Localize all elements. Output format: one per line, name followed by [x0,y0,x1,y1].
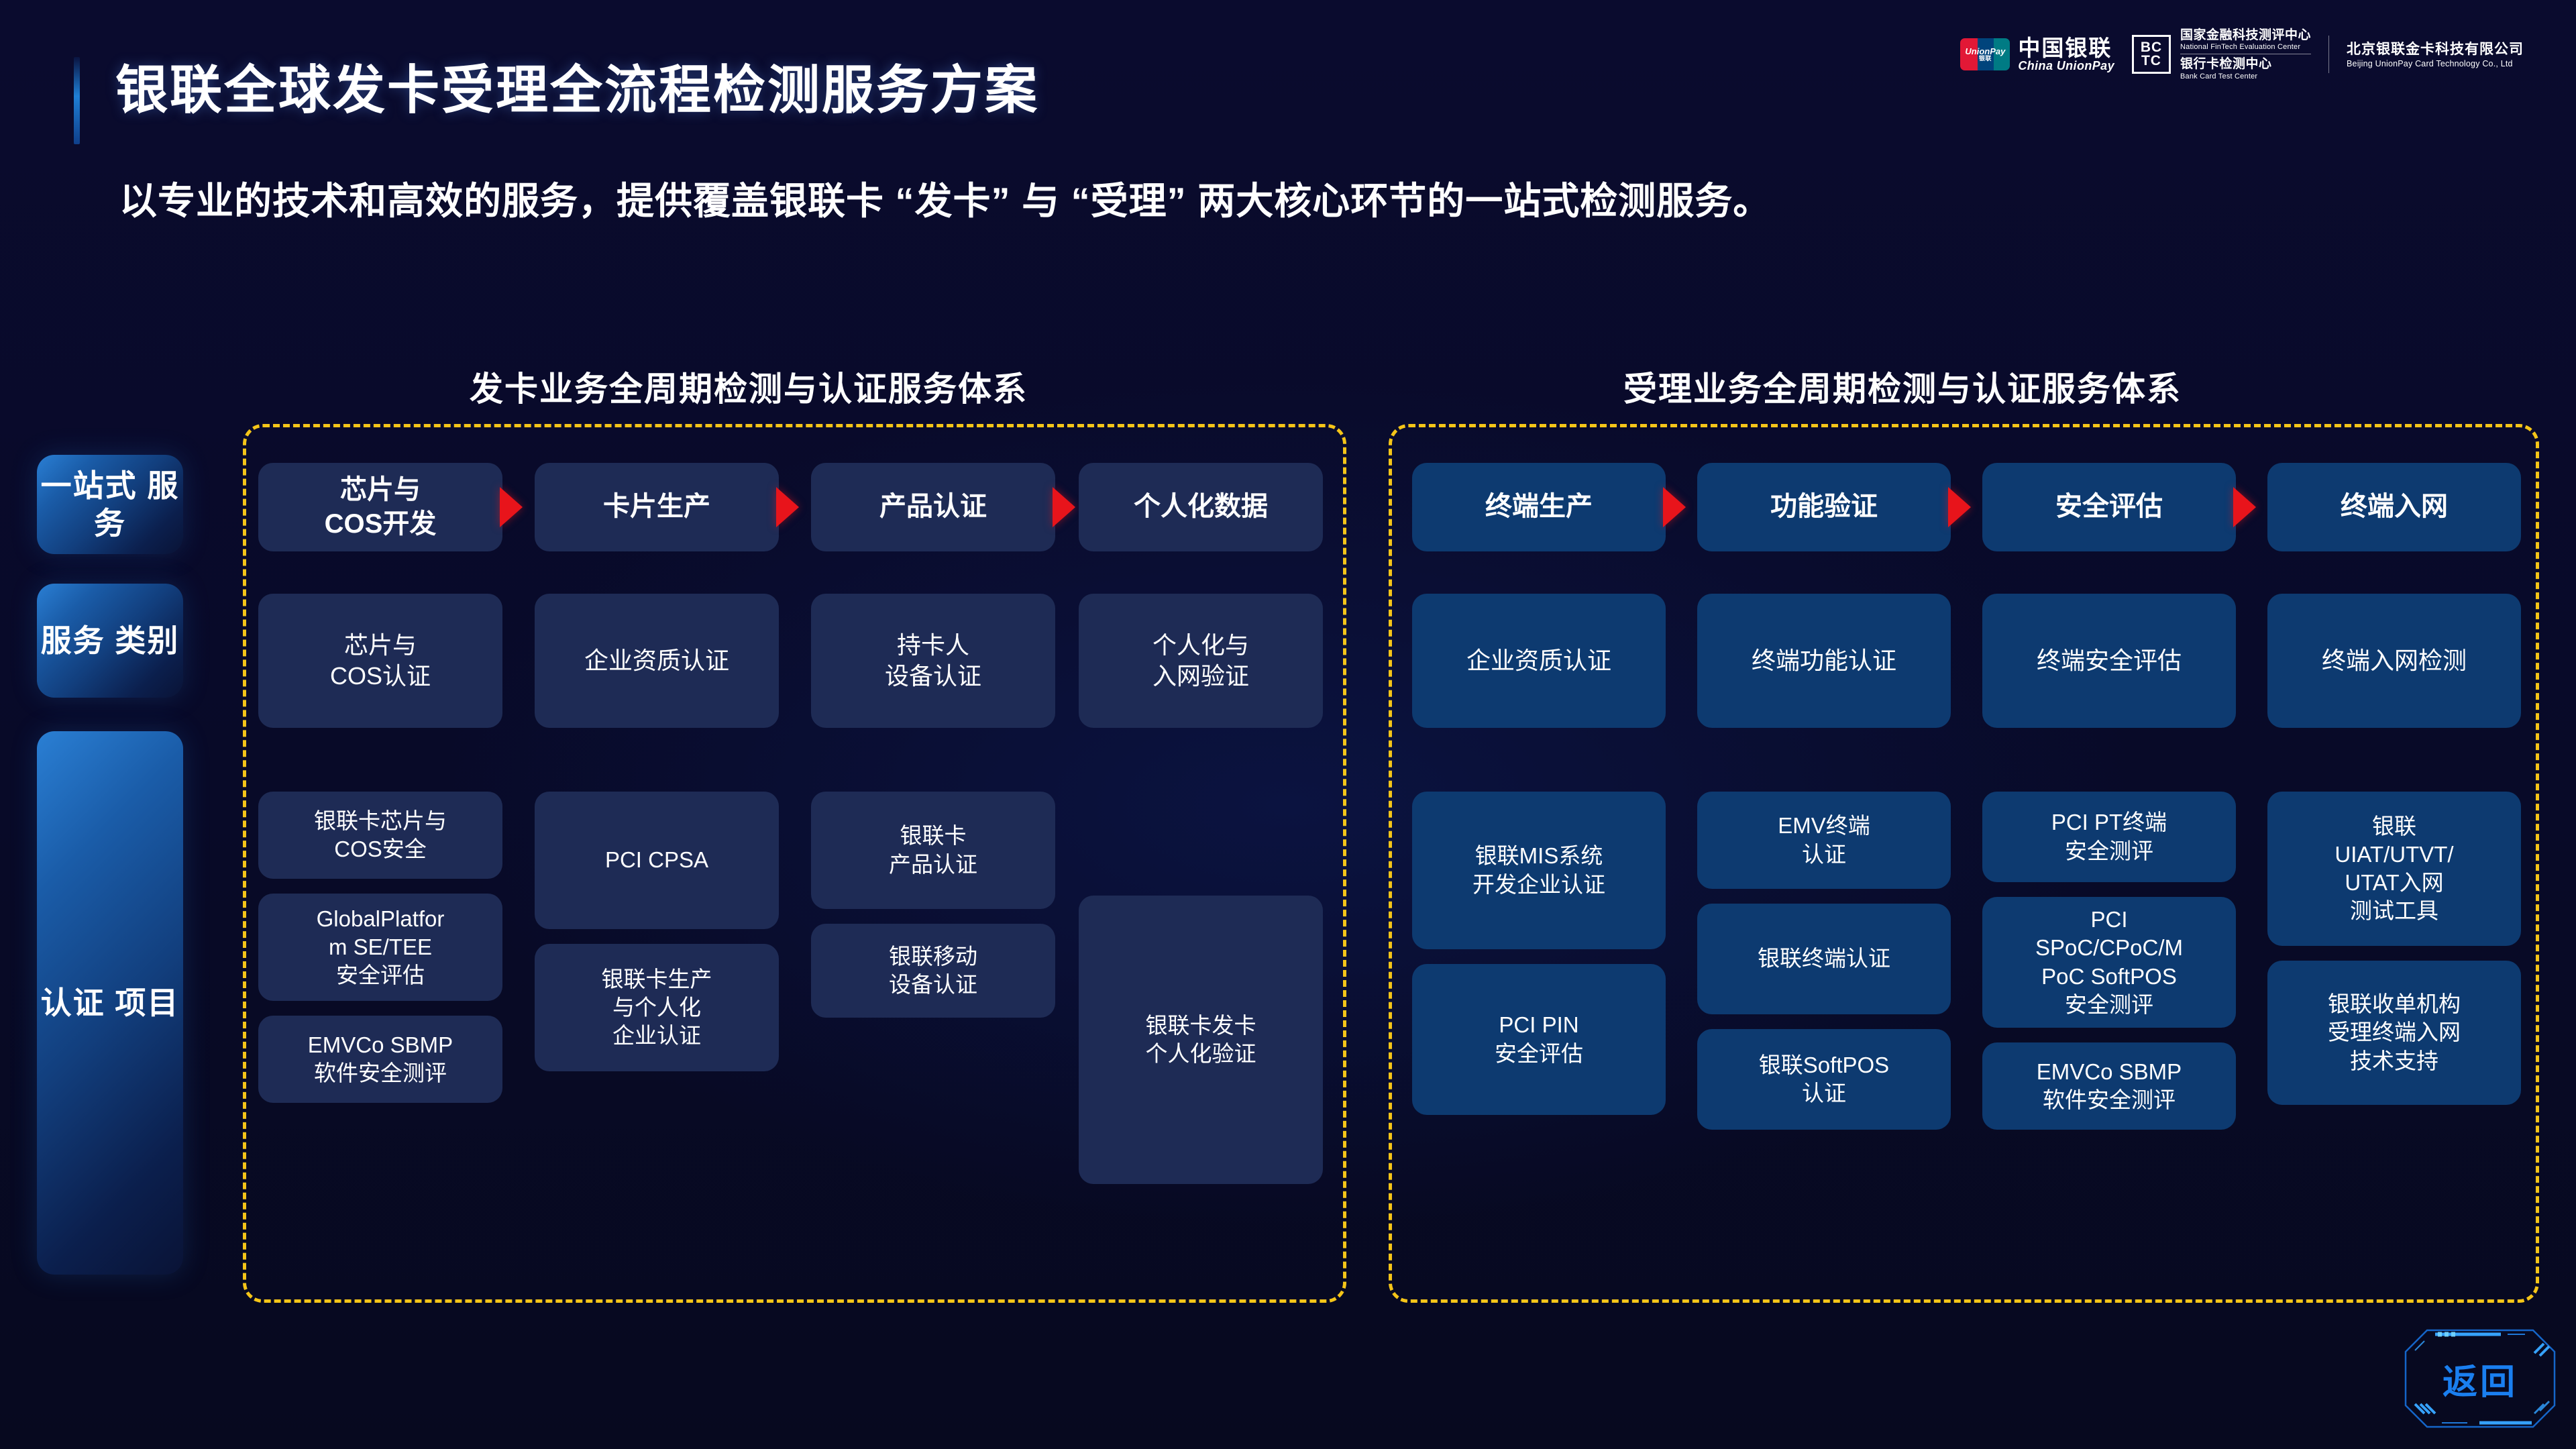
category-card-issuing-0[interactable]: 芯片与 COS认证 [258,594,502,728]
certification-card-acquiring-1-2[interactable]: 银联SoftPOS 认证 [1697,1029,1951,1130]
bctc-logo: BC TC 国家金融科技测评中心 National FinTech Evalua… [2132,28,2311,81]
certification-card-acquiring-2-1[interactable]: PCI SPoC/CPoC/M PoC SoftPOS 安全测评 [1982,897,2236,1028]
certification-card-acquiring-0-0[interactable]: 银联MIS系统 开发企业认证 [1412,792,1666,949]
bctc-line4: Bank Card Test Center [2180,72,2311,81]
panel-title-acquiring: 受理业务全周期检测与认证服务体系 [1623,362,2182,411]
certification-card-issuing-1-0[interactable]: PCI CPSA [535,792,779,929]
certification-card-issuing-3-0[interactable]: 银联卡发卡 个人化验证 [1079,896,1323,1184]
unionpay-logo: UnionPay 银联 中国银联 China UnionPay [1960,36,2114,73]
certification-card-issuing-2-0[interactable]: 银联卡 产品认证 [811,792,1055,909]
title-accent-bar [74,57,80,144]
logo-divider [2328,36,2329,73]
bctc-mark-line2: TC [2141,54,2161,68]
certification-card-acquiring-2-0[interactable]: PCI PT终端 安全测评 [1982,792,2236,882]
back-button-label: 返回 [2400,1325,2560,1432]
certification-card-acquiring-3-1[interactable]: 银联收单机构 受理终端入网 技术支持 [2267,961,2521,1105]
bctc-line2: National FinTech Evaluation Center [2180,43,2311,54]
certification-card-issuing-0-2[interactable]: EMVCo SBMP 软件安全测评 [258,1016,502,1103]
process-arrow-icon-issuing-2 [1053,487,1075,527]
unionpay-mark-bottom: 银联 [1979,56,1992,62]
process-arrow-icon-acquiring-2 [2233,487,2256,527]
category-card-issuing-2[interactable]: 持卡人 设备认证 [811,594,1055,728]
bctc-mark-line1: BC [2141,41,2162,54]
process-arrow-icon-acquiring-0 [1663,487,1686,527]
slide-root: 银联全球发卡受理全流程检测服务方案 以专业的技术和高效的服务，提供覆盖银联卡 “… [0,0,2576,1449]
category-card-acquiring-1[interactable]: 终端功能认证 [1697,594,1951,728]
panel-title-issuing: 发卡业务全周期检测与认证服务体系 [470,362,1028,411]
unionpay-name-en: China UnionPay [2018,60,2114,72]
process-card-acquiring-1[interactable]: 功能验证 [1697,463,1951,551]
beijing-unionpay-logo: 北京银联金卡科技有限公司 Beijing UnionPay Card Techn… [2347,40,2524,70]
category-card-issuing-1[interactable]: 企业资质认证 [535,594,779,728]
process-card-acquiring-2[interactable]: 安全评估 [1982,463,2236,551]
process-card-acquiring-0[interactable]: 终端生产 [1412,463,1666,551]
certification-card-acquiring-2-2[interactable]: EMVCo SBMP 软件安全测评 [1982,1042,2236,1130]
category-card-acquiring-2[interactable]: 终端安全评估 [1982,594,2236,728]
certification-card-issuing-2-1[interactable]: 银联移动 设备认证 [811,924,1055,1018]
process-card-issuing-2[interactable]: 产品认证 [811,463,1055,551]
certification-card-acquiring-1-1[interactable]: 银联终端认证 [1697,904,1951,1014]
unionpay-mark-icon: UnionPay 银联 [1960,38,2010,70]
process-arrow-icon-issuing-0 [500,487,523,527]
certification-card-issuing-0-1[interactable]: GlobalPlatfor m SE/TEE 安全评估 [258,894,502,1001]
certification-card-acquiring-3-0[interactable]: 银联 UIAT/UTVT/ UTAT入网 测试工具 [2267,792,2521,946]
certification-card-issuing-0-0[interactable]: 银联卡芯片与 COS安全 [258,792,502,879]
process-arrow-icon-issuing-1 [776,487,799,527]
rail-item-one-stop-service[interactable]: 一站式 服务 [37,455,183,554]
certification-card-acquiring-1-0[interactable]: EMV终端 认证 [1697,792,1951,889]
certification-card-acquiring-0-1[interactable]: PCI PIN 安全评估 [1412,964,1666,1115]
back-button[interactable]: 返回 [2400,1325,2560,1432]
certification-card-issuing-1-1[interactable]: 银联卡生产 与个人化 企业认证 [535,944,779,1071]
category-card-acquiring-3[interactable]: 终端入网检测 [2267,594,2521,728]
beijing-name-en: Beijing UnionPay Card Technology Co., Lt… [2347,58,2524,69]
category-card-acquiring-0[interactable]: 企业资质认证 [1412,594,1666,728]
unionpay-name-cn: 中国银联 [2018,36,2114,60]
process-card-issuing-3[interactable]: 个人化数据 [1079,463,1323,551]
process-card-issuing-1[interactable]: 卡片生产 [535,463,779,551]
beijing-name-cn: 北京银联金卡科技有限公司 [2347,40,2524,58]
page-subtitle: 以专业的技术和高效的服务，提供覆盖银联卡 “发卡” 与 “受理” 两大核心环节的… [119,171,1771,225]
bctc-line1: 国家金融科技测评中心 [2180,28,2311,43]
bctc-line3: 银行卡检测中心 [2180,57,2311,72]
category-card-issuing-3[interactable]: 个人化与 入网验证 [1079,594,1323,728]
bctc-mark-icon: BC TC [2132,35,2171,74]
process-card-issuing-0[interactable]: 芯片与 COS开发 [258,463,502,551]
rail-item-service-category[interactable]: 服务 类别 [37,584,183,698]
process-arrow-icon-acquiring-1 [1948,487,1971,527]
rail-item-certification-projects[interactable]: 认证 项目 [37,731,183,1275]
page-title: 银联全球发卡受理全流程检测服务方案 [115,60,1039,121]
process-card-acquiring-3[interactable]: 终端入网 [2267,463,2521,551]
logo-group: UnionPay 银联 中国银联 China UnionPay BC TC 国家… [1960,28,2524,81]
